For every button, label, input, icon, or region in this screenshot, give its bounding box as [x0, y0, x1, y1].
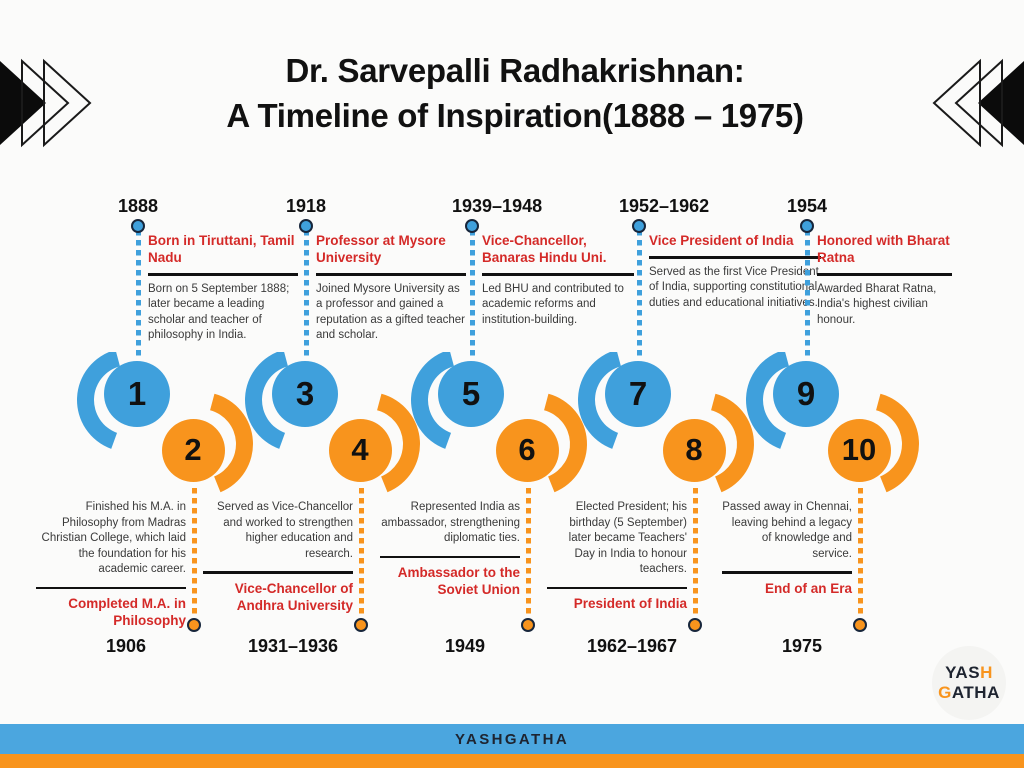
logo-line-1: YASH: [945, 663, 993, 683]
node-circle-5[interactable]: 5: [438, 361, 504, 427]
event-card: Elected President; his birthday (5 Septe…: [547, 500, 687, 612]
marker-dot: [853, 618, 867, 632]
event-description: Joined Mysore University as a professor …: [316, 282, 466, 344]
event-card: Professor at Mysore UniversityJoined Mys…: [316, 232, 466, 344]
divider: [148, 273, 298, 276]
yashgatha-logo: YASH GATHA: [932, 646, 1006, 720]
event-description: Served as Vice-Chancellor and worked to …: [203, 500, 353, 562]
node-circle-3[interactable]: 3: [272, 361, 338, 427]
footer-accent-strip: [0, 754, 1024, 768]
year-label: 1888: [118, 196, 158, 217]
title-line-2: A Timeline of Inspiration(1888 – 1975): [130, 93, 900, 138]
marker-dot: [131, 219, 145, 233]
event-description: Led BHU and contributed to academic refo…: [482, 282, 634, 329]
marker-dot: [688, 618, 702, 632]
year-label: 1906: [36, 636, 216, 657]
footer-brand-bar: YASHGATHA: [0, 724, 1024, 754]
year-label: 1939–1948: [452, 196, 542, 217]
event-description: Elected President; his birthday (5 Septe…: [547, 500, 687, 578]
divider: [649, 256, 821, 259]
event-description: Represented India as ambassador, strengt…: [380, 500, 520, 547]
divider: [380, 556, 520, 559]
node-circle-7[interactable]: 7: [605, 361, 671, 427]
page-title: Dr. Sarvepalli Radhakrishnan: A Timeline…: [130, 48, 900, 138]
divider: [547, 587, 687, 590]
logo-line-2: GATHA: [938, 683, 1000, 703]
node-circle-1[interactable]: 1: [104, 361, 170, 427]
node-circle-2[interactable]: 2: [162, 419, 225, 482]
marker-dot: [465, 219, 479, 233]
event-heading: End of an Era: [722, 580, 852, 597]
divider: [482, 273, 634, 276]
timeline-node-band: 13579246810: [0, 352, 1024, 502]
divider: [722, 571, 852, 574]
marker-dot: [800, 219, 814, 233]
connector-line: [805, 230, 810, 358]
marker-dot: [521, 618, 535, 632]
event-description: Served as the first Vice President of In…: [649, 265, 821, 312]
connector-line: [136, 230, 141, 358]
title-line-1: Dr. Sarvepalli Radhakrishnan:: [130, 48, 900, 93]
event-heading: Completed M.A. in Philosophy: [36, 595, 186, 629]
divider: [316, 273, 466, 276]
event-description: Passed away in Chennai, leaving behind a…: [722, 500, 852, 562]
event-card: Served as Vice-Chancellor and worked to …: [203, 500, 353, 614]
marker-dot: [632, 219, 646, 233]
year-label: 1975: [722, 636, 882, 657]
divider: [817, 273, 952, 276]
event-heading: Vice-Chancellor, Banaras Hindu Uni.: [482, 232, 634, 266]
event-description: Finished his M.A. in Philosophy from Mad…: [36, 500, 186, 578]
event-card: Vice President of IndiaServed as the fir…: [649, 232, 821, 311]
year-label: 1952–1962: [619, 196, 709, 217]
connector-line: [693, 488, 698, 618]
event-card: Finished his M.A. in Philosophy from Mad…: [36, 500, 186, 629]
event-heading: Ambassador to the Soviet Union: [380, 564, 520, 598]
node-circle-10[interactable]: 10: [828, 419, 891, 482]
connector-line: [637, 230, 642, 358]
connector-line: [304, 230, 309, 358]
event-card: Vice-Chancellor, Banaras Hindu Uni.Led B…: [482, 232, 634, 328]
connector-line: [359, 488, 364, 618]
event-heading: Born in Tiruttani, Tamil Nadu: [148, 232, 298, 266]
footer-brand-text: YASHGATHA: [455, 731, 569, 748]
event-card: Represented India as ambassador, strengt…: [380, 500, 520, 598]
chevron-right-decoration-left: [0, 55, 95, 151]
event-description: Born on 5 September 1888; later became a…: [148, 282, 298, 344]
marker-dot: [299, 219, 313, 233]
divider: [36, 587, 186, 590]
event-heading: Vice President of India: [649, 232, 821, 249]
event-card: Honored with Bharat RatnaAwarded Bharat …: [817, 232, 952, 328]
connector-line: [858, 488, 863, 618]
node-circle-8[interactable]: 8: [663, 419, 726, 482]
node-circle-9[interactable]: 9: [773, 361, 839, 427]
event-heading: Vice-Chancellor of Andhra University: [203, 580, 353, 614]
infographic-canvas: Dr. Sarvepalli Radhakrishnan: A Timeline…: [0, 0, 1024, 768]
marker-dot: [187, 618, 201, 632]
year-label: 1954: [787, 196, 827, 217]
connector-line: [192, 488, 197, 618]
event-card: Passed away in Chennai, leaving behind a…: [722, 500, 852, 597]
event-heading: Honored with Bharat Ratna: [817, 232, 952, 266]
event-card: Born in Tiruttani, Tamil NaduBorn on 5 S…: [148, 232, 298, 344]
year-label: 1949: [380, 636, 550, 657]
year-label: 1918: [286, 196, 326, 217]
year-label: 1962–1967: [547, 636, 717, 657]
connector-line: [526, 488, 531, 618]
event-heading: President of India: [547, 595, 687, 612]
year-label: 1931–1936: [203, 636, 383, 657]
event-heading: Professor at Mysore University: [316, 232, 466, 266]
node-circle-6[interactable]: 6: [496, 419, 559, 482]
divider: [203, 571, 353, 574]
node-circle-4[interactable]: 4: [329, 419, 392, 482]
chevron-left-decoration-right: [929, 55, 1024, 151]
marker-dot: [354, 618, 368, 632]
connector-line: [470, 230, 475, 358]
event-description: Awarded Bharat Ratna, India's highest ci…: [817, 282, 952, 329]
